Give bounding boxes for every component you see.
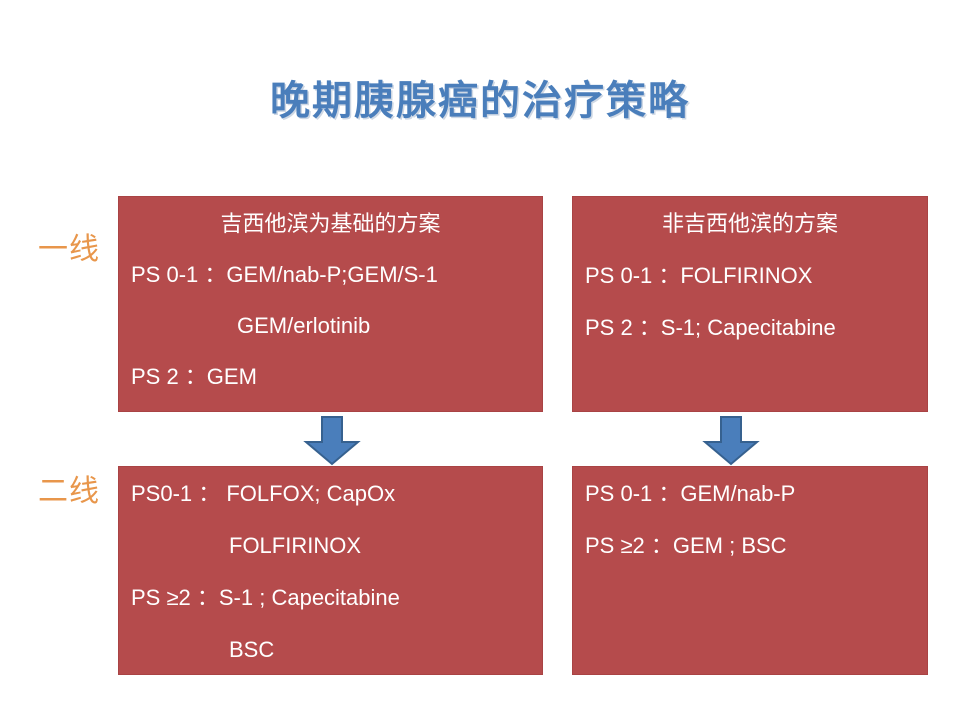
box-line: GEM/erlotinib [119,315,542,337]
box-line: PS 0-1 ：GEM/nab-P [573,483,927,505]
treatment-box-first-line-non-gemcitabine: 非吉西他滨的方案 PS 0-1 ：FOLFIRINOX PS 2 ：S-1; C… [572,196,928,412]
box-line: PS ≥2 ：GEM ; BSC [573,535,927,557]
box-text-block: PS 0-1 ：GEM/nab-P PS ≥2 ：GEM ; BSC [573,483,927,587]
treatment-box-first-line-gemcitabine: 吉西他滨为基础的方案 PS 0-1 ：GEM/nab-P;GEM/S-1 GEM… [118,196,543,412]
box-text-block: 非吉西他滨的方案 PS 0-1 ：FOLFIRINOX PS 2 ：S-1; C… [573,213,927,369]
box-line: PS ≥2 ：S-1 ; Capecitabine [119,587,542,609]
down-arrow-icon-left [303,416,361,466]
stage-label-second-line: 二线 [38,466,100,510]
box-text-block: PS0-1 ： FOLFOX; CapOx FOLFIRINOX PS ≥2 ：… [119,483,542,691]
stage-label-first-line: 一线 [38,224,100,268]
box-line: PS 0-1 ：GEM/nab-P;GEM/S-1 [119,264,542,286]
treatment-box-second-line-right: PS 0-1 ：GEM/nab-P PS ≥2 ：GEM ; BSC [572,466,928,675]
box-heading: 吉西他滨为基础的方案 [119,213,542,235]
box-text-block: 吉西他滨为基础的方案 PS 0-1 ：GEM/nab-P;GEM/S-1 GEM… [119,213,542,417]
page-title: 晚期胰腺癌的治疗策略 [0,68,960,126]
box-line: BSC [119,639,542,661]
box-line: FOLFIRINOX [119,535,542,557]
box-line: PS 0-1 ：FOLFIRINOX [573,265,927,287]
box-line: PS 2 ：GEM [119,366,542,388]
treatment-box-second-line-left: PS0-1 ： FOLFOX; CapOx FOLFIRINOX PS ≥2 ：… [118,466,543,675]
box-heading: 非吉西他滨的方案 [573,213,927,235]
box-line: PS0-1 ： FOLFOX; CapOx [119,483,542,505]
down-arrow-icon-right [702,416,760,466]
slide-canvas: 晚期胰腺癌的治疗策略 一线 二线 吉西他滨为基础的方案 PS 0-1 ：GEM/… [0,0,960,720]
box-line: PS 2 ：S-1; Capecitabine [573,317,927,339]
